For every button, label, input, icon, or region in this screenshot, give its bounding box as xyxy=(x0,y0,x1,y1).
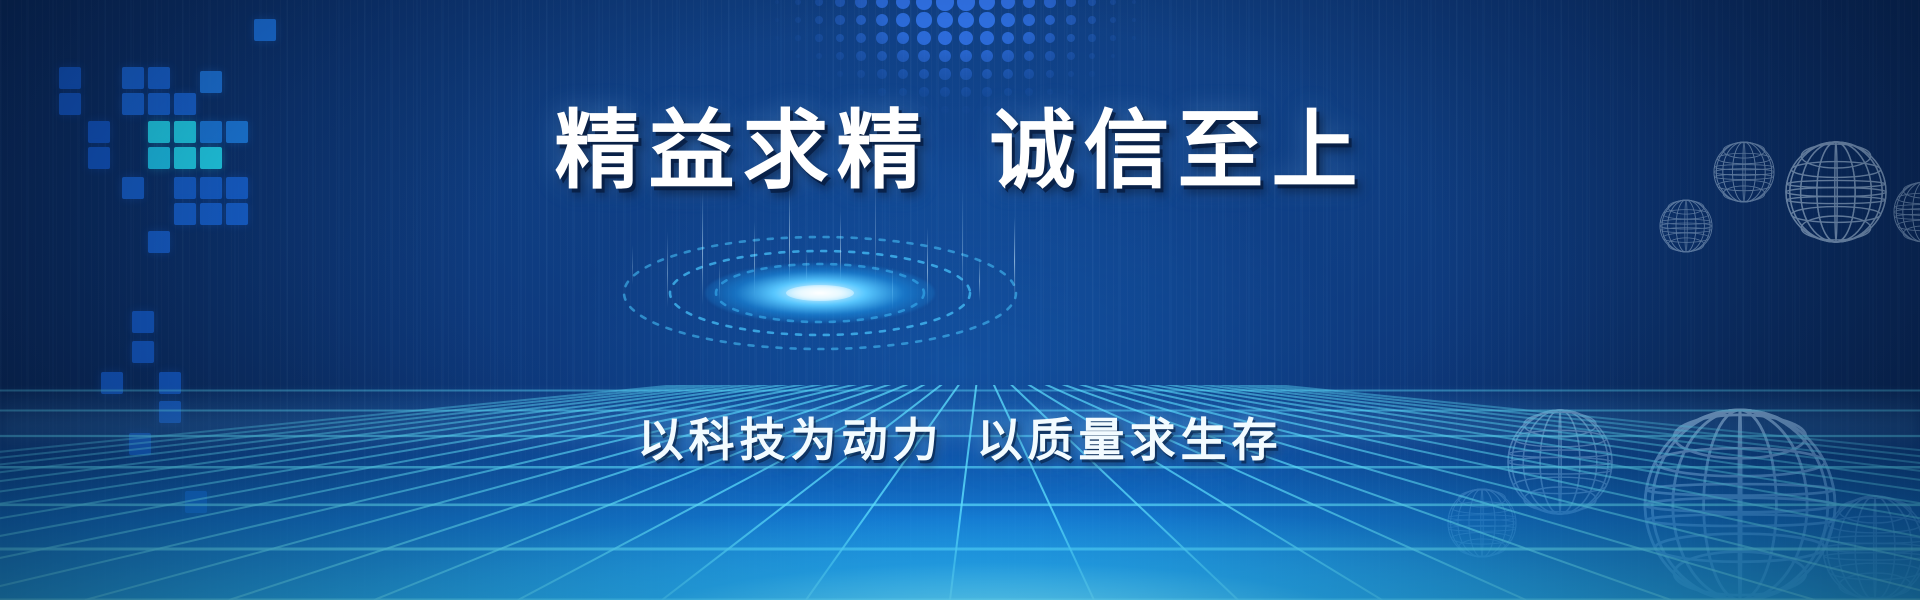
banner-subtitle: 以科技为动力 以质量求生存 xyxy=(0,418,1920,464)
vignette-overlay xyxy=(0,0,1920,600)
banner-title: 精益求精 诚信至上 xyxy=(0,108,1920,194)
tech-banner: 精益求精 诚信至上 以科技为动力 以质量求生存 xyxy=(0,0,1920,600)
